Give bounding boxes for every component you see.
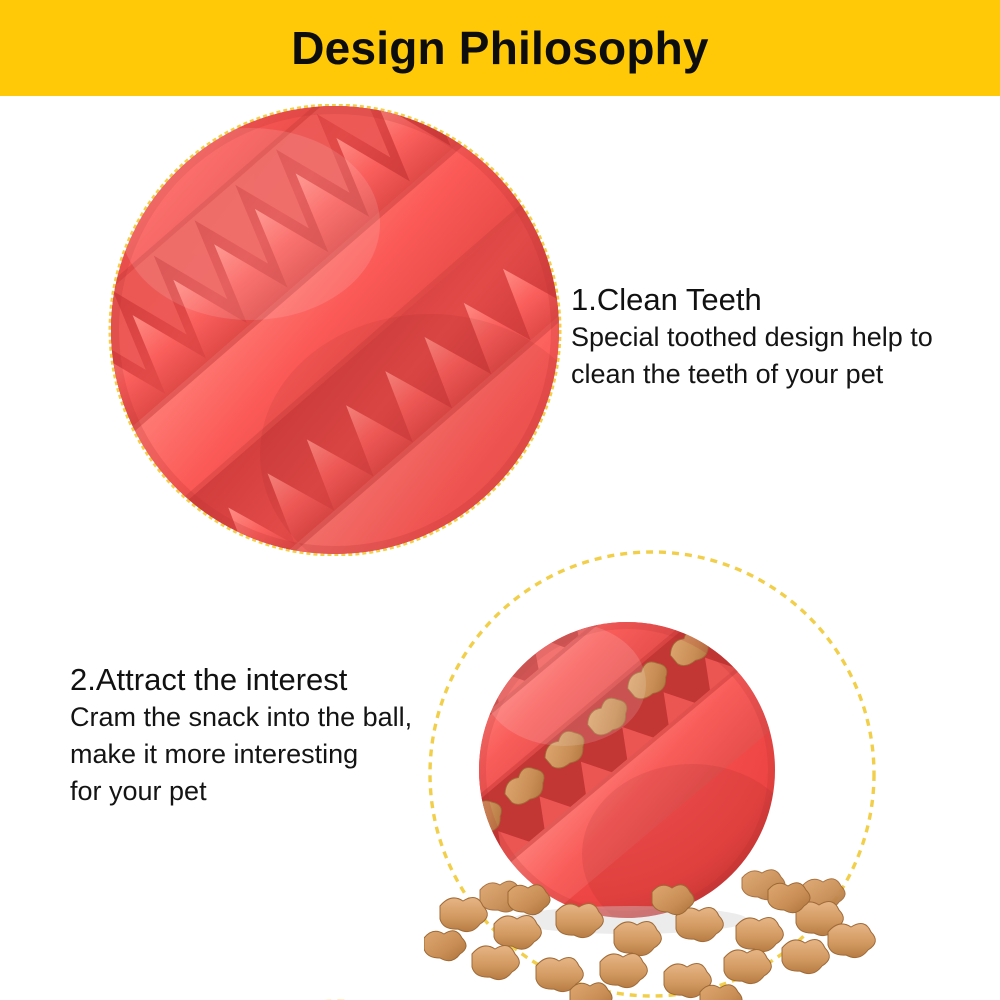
feature-1-body-line-2: clean the teeth of your pet xyxy=(571,356,991,393)
feature-2-body-line-1: Cram the snack into the ball, xyxy=(70,699,470,736)
toothed-ball-photo xyxy=(100,104,570,556)
feature-2-body-line-2: make it more interesting xyxy=(70,736,470,773)
partial-dashed-arc xyxy=(232,972,442,1000)
feature-1-body-line-1: Special toothed design help to xyxy=(571,319,991,356)
header-banner: Design Philosophy xyxy=(0,0,1000,96)
feature-2-body-line-3: for your pet xyxy=(70,773,470,810)
product-infographic-page: Design Philosophy xyxy=(0,0,1000,1000)
feature-2-heading: 2.Attract the interest xyxy=(70,661,470,699)
feature-2-text-block: 2.Attract the interest Cram the snack in… xyxy=(70,661,470,810)
kibble-ball-photo xyxy=(424,534,894,1000)
page-title: Design Philosophy xyxy=(291,25,708,71)
feature-1-heading: 1.Clean Teeth xyxy=(571,281,991,319)
feature-1-text-block: 1.Clean Teeth Special toothed design hel… xyxy=(571,281,991,393)
